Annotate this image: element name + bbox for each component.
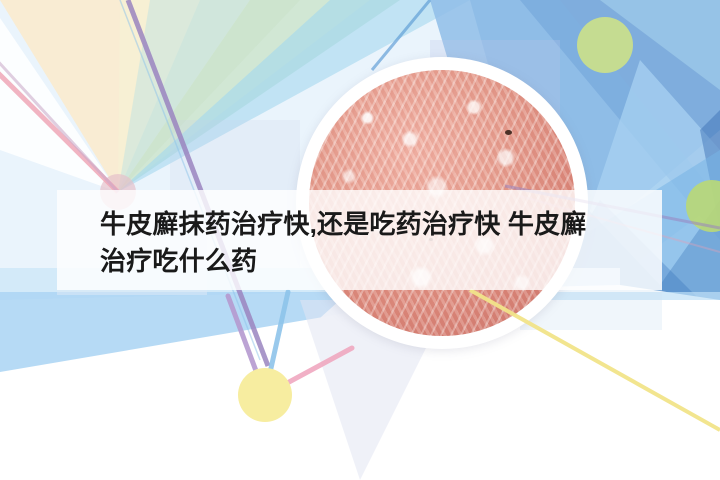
headline-line-1: 牛皮廯抹药治疗快,还是吃药治疗快 牛皮廯 [100, 209, 586, 239]
purple-line-long [0, 20, 118, 192]
blue-diagonal-thin [120, 0, 260, 360]
poster-canvas: 牛皮廯抹药治疗快,还是吃药治疗快 牛皮廯治疗吃什么药 [0, 0, 720, 480]
blue-diagonal-topright [372, 0, 430, 70]
yellow-diagonal-bottomright [470, 290, 720, 430]
purple-diagonal-main [128, 0, 268, 366]
page-title: 牛皮廯抹药治疗快,还是吃药治疗快 牛皮廯治疗吃什么药 [100, 206, 620, 280]
headline-line-2: 治疗吃什么药 [100, 246, 257, 276]
yellow-circle-bottom [238, 368, 292, 422]
